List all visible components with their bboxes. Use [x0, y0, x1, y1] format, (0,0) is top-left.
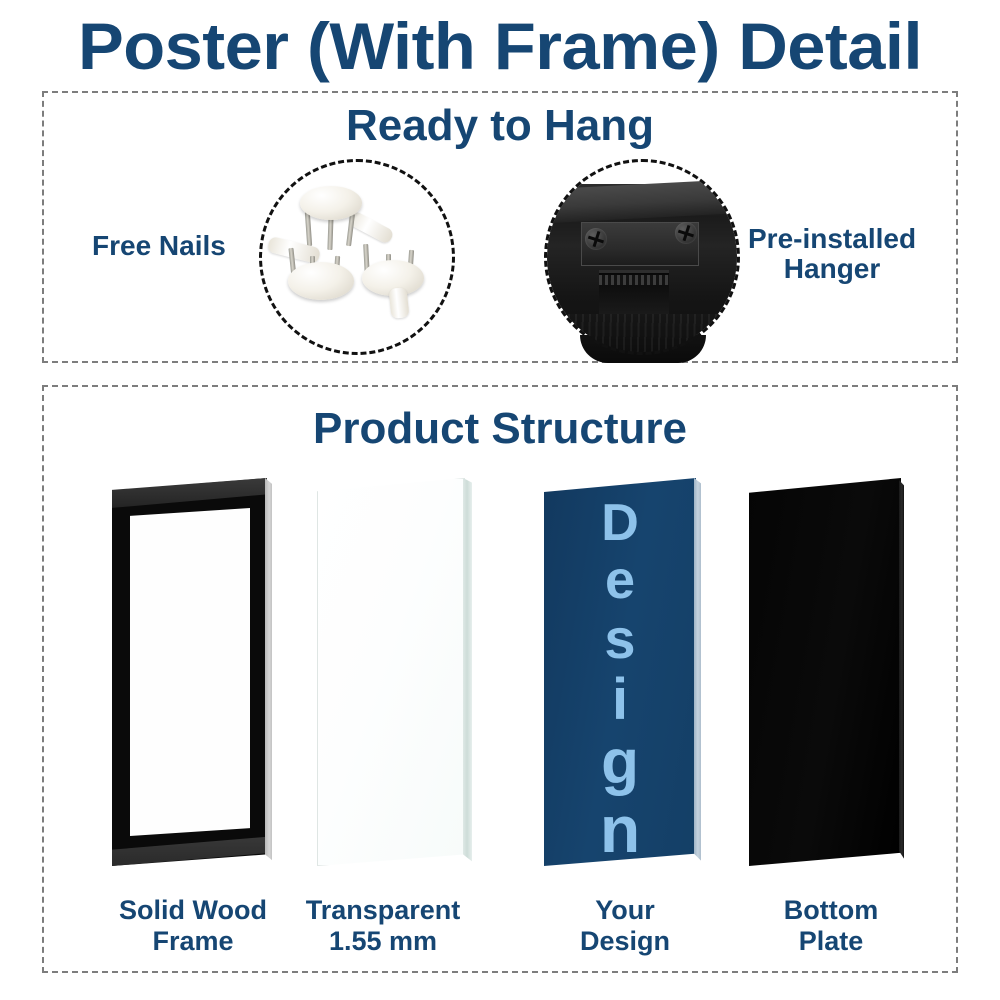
hanger-slot-teeth	[599, 275, 669, 285]
design-letter-1: D	[601, 500, 639, 548]
hanger-top-band	[544, 179, 740, 224]
pre-installed-hanger-photo	[544, 159, 740, 363]
hanger-label-line-2: Hanger	[748, 254, 916, 284]
screw-right-icon	[675, 222, 697, 244]
bottom-plate-face	[749, 478, 901, 866]
design-letter-4: i	[612, 673, 628, 726]
hanger-slot	[599, 270, 669, 315]
frame-inner-opening	[130, 508, 250, 836]
layer-transparent-sheet	[311, 470, 491, 870]
caption-line-2: Plate	[716, 926, 946, 957]
transparent-sheet-edge	[463, 478, 472, 866]
free-nails-label: Free Nails	[92, 231, 226, 261]
design-letter-2: e	[605, 556, 635, 606]
product-structure-title: Product Structure	[0, 404, 1000, 454]
hanger-body	[547, 184, 740, 355]
design-vertical-text: D e s i g n	[544, 478, 696, 866]
layer-your-design: D e s i g n	[538, 470, 718, 870]
design-letter-3: s	[604, 613, 635, 665]
ready-to-hang-title: Ready to Hang	[0, 101, 1000, 151]
layer-bottom-plate	[743, 470, 923, 870]
caption-transparent-sheet: Transparent 1.55 mm	[268, 895, 498, 957]
transparent-sheet-face	[317, 478, 465, 866]
bottom-plate-edge	[899, 480, 904, 864]
frame-side-edge	[265, 478, 272, 866]
caption-bottom-plate: Bottom Plate	[716, 895, 946, 957]
hanger-bottom-texture	[547, 314, 740, 355]
design-letter-5: g	[601, 734, 639, 791]
caption-line-1: Bottom	[716, 895, 946, 926]
caption-line-2: Design	[510, 926, 740, 957]
layer-solid-wood-frame	[104, 470, 284, 870]
pre-installed-hanger-label: Pre-installed Hanger	[748, 224, 916, 284]
caption-line-1: Your	[510, 895, 740, 926]
page-title: Poster (With Frame) Detail	[0, 8, 1000, 84]
caption-line-2: 1.55 mm	[268, 926, 498, 957]
hanger-label-line-1: Pre-installed	[748, 224, 916, 254]
caption-your-design: Your Design	[510, 895, 740, 957]
design-letter-6: n	[600, 799, 640, 860]
free-nails-photo	[259, 159, 455, 355]
caption-line-1: Transparent	[268, 895, 498, 926]
screw-left-icon	[585, 228, 607, 250]
hanger-circle-mask	[544, 159, 740, 355]
